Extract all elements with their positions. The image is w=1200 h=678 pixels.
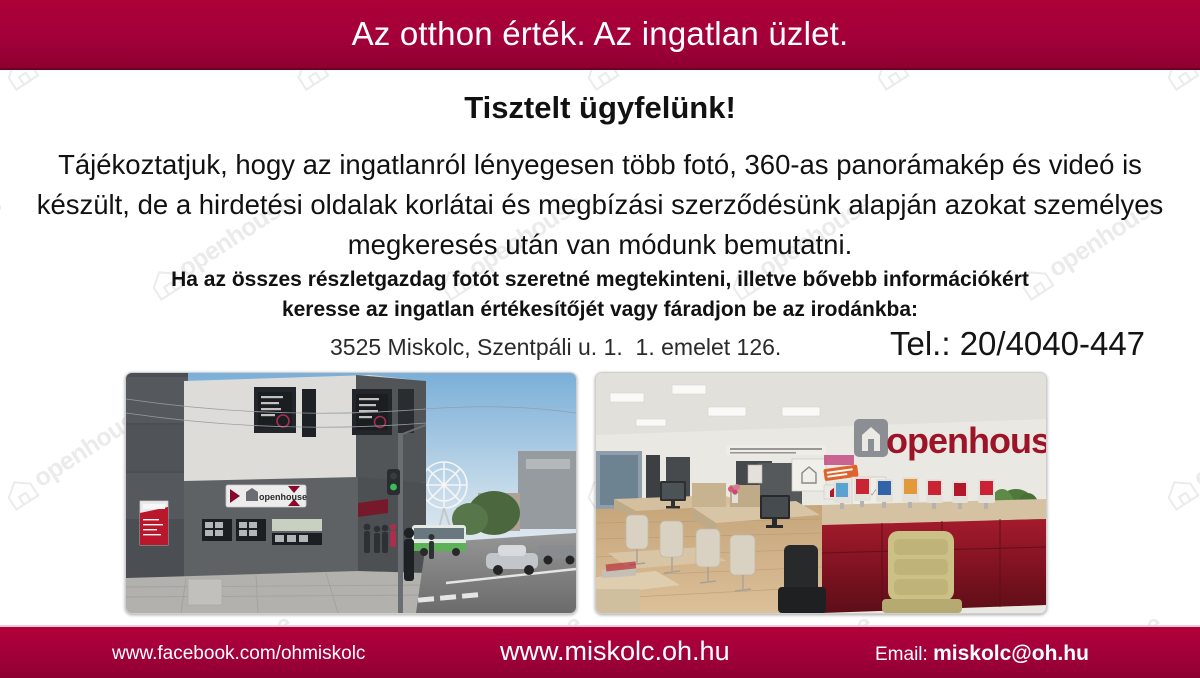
cta-paragraph: Ha az összes részletgazdag fotót szeretn… — [14, 265, 1186, 325]
office-interior-photo[interactable]: openhouse — [595, 372, 1047, 614]
office-interior-illustration: openhouse — [596, 373, 1046, 613]
intro-paragraph: Tájékoztatjuk, hogy az ingatlanról lénye… — [14, 145, 1186, 265]
phone-number[interactable]: Tel.: 20/4040-447 — [890, 325, 1145, 363]
page-title: Tisztelt ügyfelünk! — [0, 90, 1200, 126]
footer-bar: www.facebook.com/ohmiskolc www.miskolc.o… — [0, 625, 1200, 678]
email-block[interactable]: Email: miskolc@oh.hu — [875, 642, 1089, 666]
office-address: 3525 Miskolc, Szentpáli u. 1. 1. emelet … — [330, 334, 781, 361]
contact-row: 3525 Miskolc, Szentpáli u. 1. 1. emelet … — [0, 328, 1200, 378]
email-label: Email: — [875, 644, 928, 665]
header-bar: Az otthon érték. Az ingatlan üzlet. — [0, 0, 1200, 70]
cta-line-1: Ha az összes részletgazdag fotót szeretn… — [14, 265, 1186, 295]
photo-gallery: openhouse — [0, 372, 1200, 617]
flyer-page: Az otthon érték. Az ingatlan üzlet. open… — [0, 0, 1200, 678]
header-slogan: Az otthon érték. Az ingatlan üzlet. — [352, 15, 849, 53]
facebook-link[interactable]: www.facebook.com/ohmiskolc — [112, 643, 365, 665]
main-content: Tisztelt ügyfelünk! Tájékoztatjuk, hogy … — [0, 68, 1200, 625]
cta-line-2: keresse az ingatlan értékesítőjét vagy f… — [14, 295, 1186, 325]
office-exterior-photo[interactable]: openhouse — [125, 372, 577, 614]
office-exterior-illustration: openhouse — [126, 373, 576, 613]
website-link[interactable]: www.miskolc.oh.hu — [500, 636, 730, 667]
email-address[interactable]: miskolc@oh.hu — [933, 642, 1089, 665]
